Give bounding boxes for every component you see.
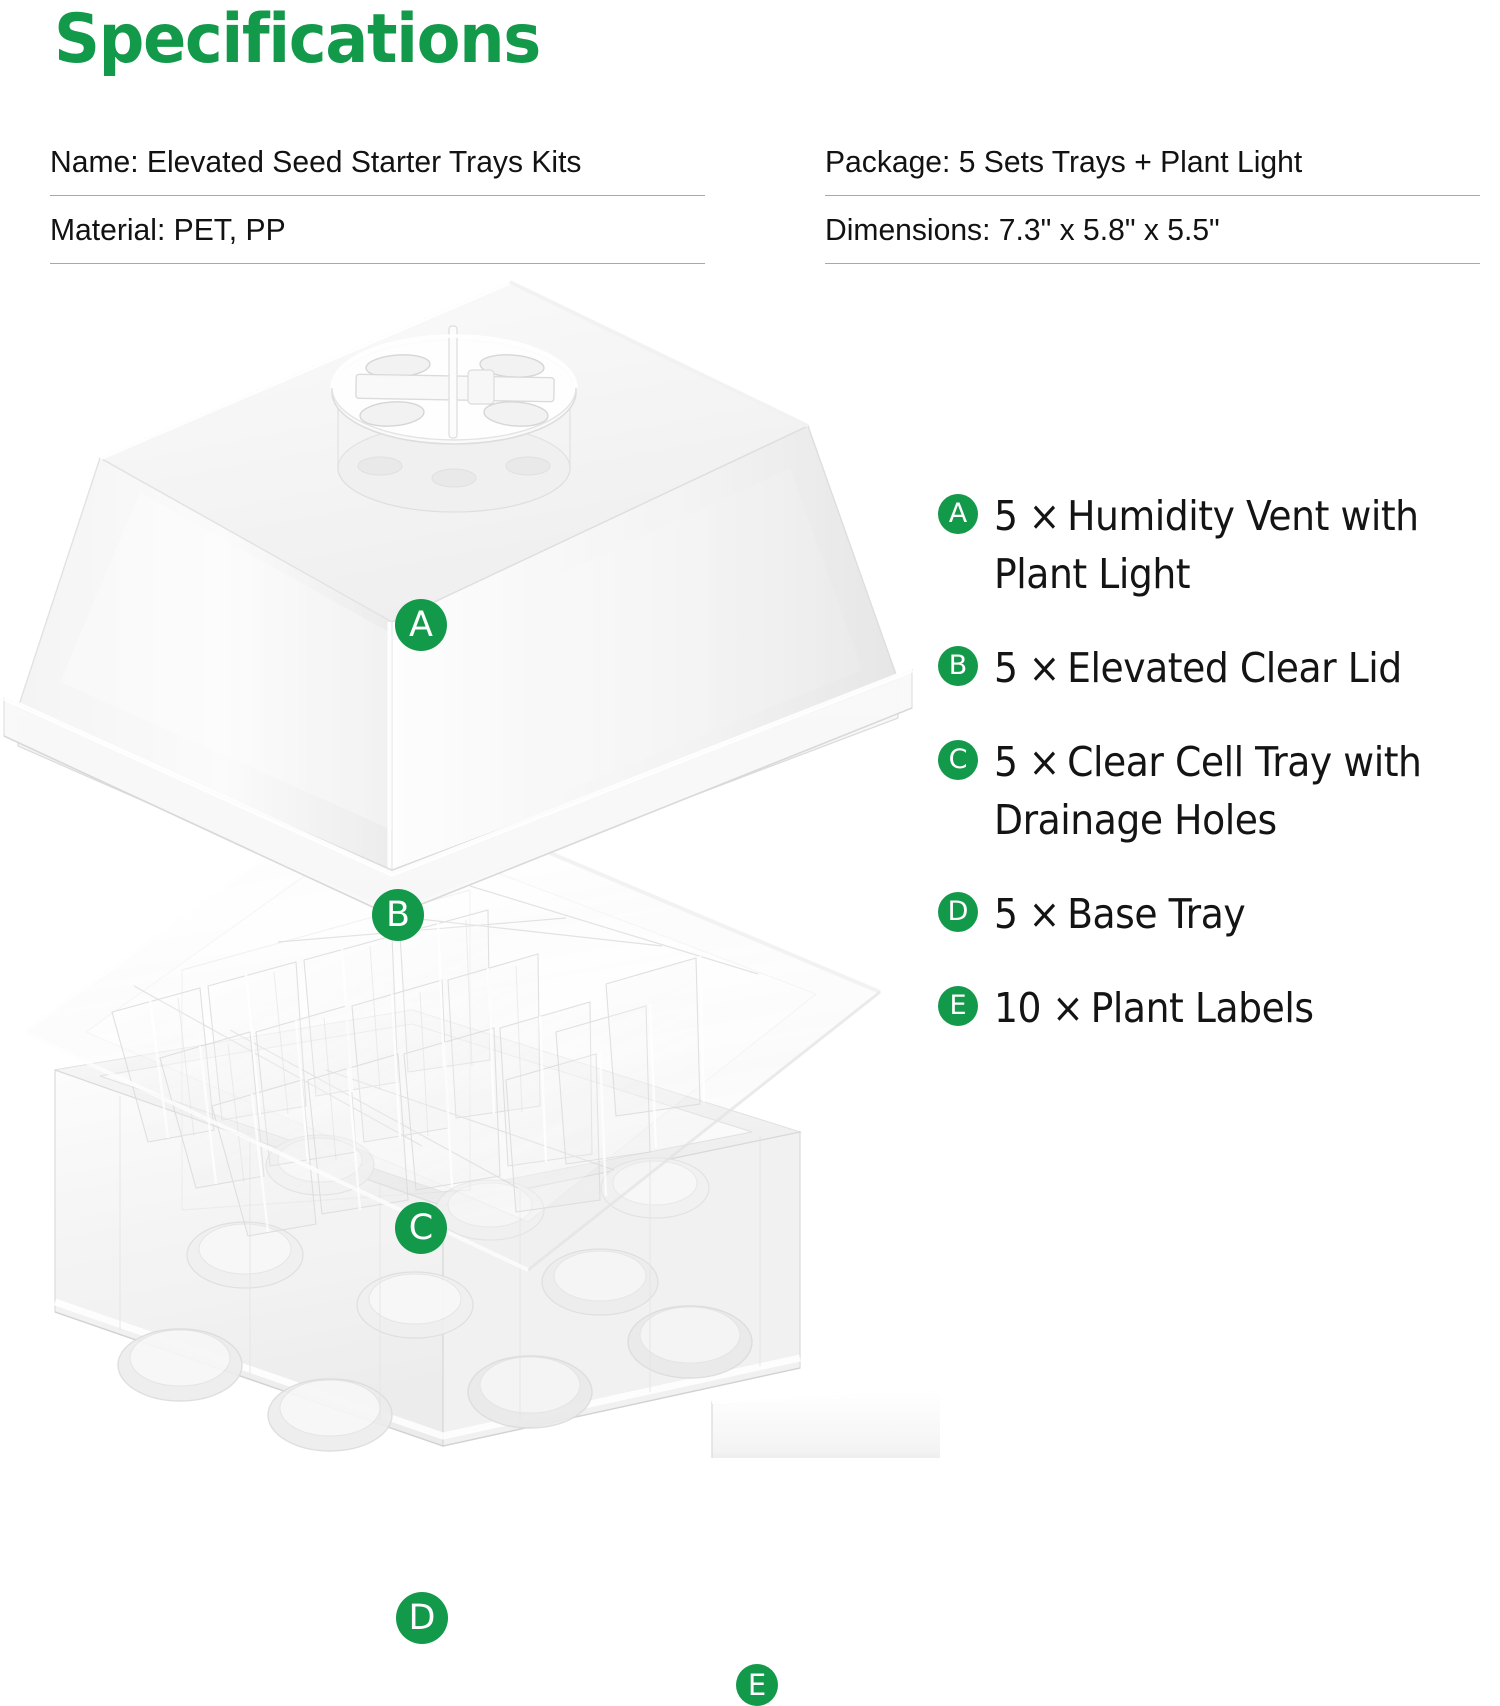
- spec-row-material: Material: PET, PP: [50, 196, 705, 264]
- legend-label-a: 5×Humidity Vent with Plant Light: [994, 487, 1458, 603]
- spec-divider: [825, 263, 1480, 264]
- spec-dimensions-text: Dimensions: 7.3" x 5.8" x 5.5": [825, 212, 1220, 248]
- legend-badge-e: E: [938, 986, 978, 1026]
- spec-material-text: Material: PET, PP: [50, 212, 286, 248]
- legend-multiply-icon-d: ×: [1029, 890, 1060, 938]
- spec-package-text: Package: 5 Sets Trays + Plant Light: [825, 144, 1302, 180]
- callout-badge-e: E: [736, 1664, 778, 1706]
- legend-label-d: 5×Base Tray: [994, 885, 1458, 943]
- legend-badge-a: A: [938, 494, 978, 534]
- page-title: Specifications: [54, 2, 540, 78]
- spec-divider: [50, 263, 705, 264]
- legend-qty-a: 5: [994, 492, 1018, 540]
- spec-name-text: Name: Elevated Seed Starter Trays Kits: [50, 144, 581, 180]
- legend-qty-d: 5: [994, 890, 1018, 938]
- legend-name-b: Elevated Clear Lid: [1067, 644, 1402, 692]
- plant-label: [712, 1390, 940, 1458]
- legend-name-d: Base Tray: [1067, 890, 1245, 938]
- humidity-vent: [332, 326, 576, 512]
- legend-label-b: 5×Elevated Clear Lid: [994, 639, 1458, 697]
- spec-gutter: [705, 196, 825, 264]
- legend-label-e: 10×Plant Labels: [994, 979, 1458, 1037]
- legend-multiply-icon-a: ×: [1029, 492, 1060, 540]
- spec-row-name: Name: Elevated Seed Starter Trays Kits: [50, 128, 705, 196]
- legend-item-b: B 5×Elevated Clear Lid: [938, 639, 1498, 697]
- product-exploded-illustration: A B C D E: [0, 270, 940, 1458]
- legend-multiply-icon-e: ×: [1052, 984, 1083, 1032]
- legend-badge-d: D: [938, 892, 978, 932]
- legend-badge-b: B: [938, 646, 978, 686]
- parts-legend: A 5×Humidity Vent with Plant Light B 5×E…: [938, 487, 1498, 1037]
- legend-multiply-icon-c: ×: [1029, 738, 1060, 786]
- legend-qty-e: 10: [994, 984, 1041, 1032]
- legend-item-c: C 5×Clear Cell Tray with Drainage Holes: [938, 733, 1498, 849]
- callout-badge-d: D: [396, 1592, 448, 1644]
- specifications-grid: Name: Elevated Seed Starter Trays Kits P…: [50, 128, 1460, 264]
- legend-multiply-icon-b: ×: [1029, 644, 1060, 692]
- legend-label-c: 5×Clear Cell Tray with Drainage Holes: [994, 733, 1458, 849]
- legend-item-e: E 10×Plant Labels: [938, 979, 1498, 1037]
- spec-row-package: Package: 5 Sets Trays + Plant Light: [825, 128, 1480, 196]
- legend-name-e: Plant Labels: [1091, 984, 1314, 1032]
- legend-item-d: D 5×Base Tray: [938, 885, 1498, 943]
- callout-badge-a: A: [395, 599, 447, 651]
- legend-qty-b: 5: [994, 644, 1018, 692]
- callout-badge-b: B: [372, 889, 424, 941]
- legend-badge-c: C: [938, 740, 978, 780]
- product-illustration-svg: [0, 270, 940, 1458]
- legend-qty-c: 5: [994, 738, 1018, 786]
- spec-gutter: [705, 128, 825, 196]
- spec-row-dimensions: Dimensions: 7.3" x 5.8" x 5.5": [825, 196, 1480, 264]
- callout-badge-c: C: [395, 1202, 447, 1254]
- legend-item-a: A 5×Humidity Vent with Plant Light: [938, 487, 1498, 603]
